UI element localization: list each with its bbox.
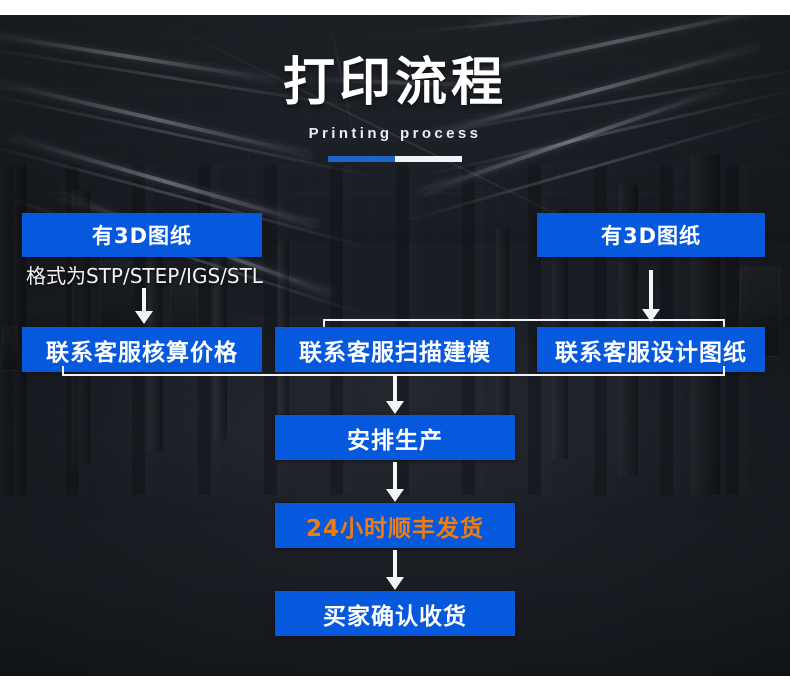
arrow-down-to-shipping (385, 462, 405, 502)
connector-top-bracket-horizontal (323, 319, 725, 321)
flow-box-contact-support-quote[interactable]: 联系客服核算价格 (22, 327, 262, 372)
arrow-down-to-production (385, 374, 405, 414)
flow-box-buyer-confirm-receipt[interactable]: 买家确认收货 (275, 591, 515, 636)
flow-box-has-3d-drawing-right[interactable]: 有3D图纸 (537, 213, 765, 257)
connector-bottom-bracket-right-stub (723, 366, 725, 376)
format-caption: 格式为STP/STEP/IGS/STL (26, 260, 263, 289)
flow-box-24h-sf-shipping[interactable]: 24小时顺丰发货 (275, 503, 515, 548)
arrow-down-to-confirm-receipt (385, 550, 405, 590)
connector-bottom-bracket-left-stub (62, 366, 64, 376)
page-root: 打印流程 Printing process 有3D图纸 有3D图纸 格式为STP… (0, 0, 790, 696)
arrow-down-left-column (134, 288, 154, 324)
flow-box-arrange-production[interactable]: 安排生产 (275, 415, 515, 460)
arrow-down-right-column (641, 270, 661, 322)
flow-box-has-3d-drawing-left[interactable]: 有3D图纸 (22, 213, 262, 257)
flow-box-contact-support-scan-model[interactable]: 联系客服扫描建模 (275, 327, 515, 372)
flow-chart: 有3D图纸 有3D图纸 格式为STP/STEP/IGS/STL 联系客服核算价格… (0, 0, 790, 696)
flow-box-contact-support-design-drawing[interactable]: 联系客服设计图纸 (537, 327, 765, 372)
